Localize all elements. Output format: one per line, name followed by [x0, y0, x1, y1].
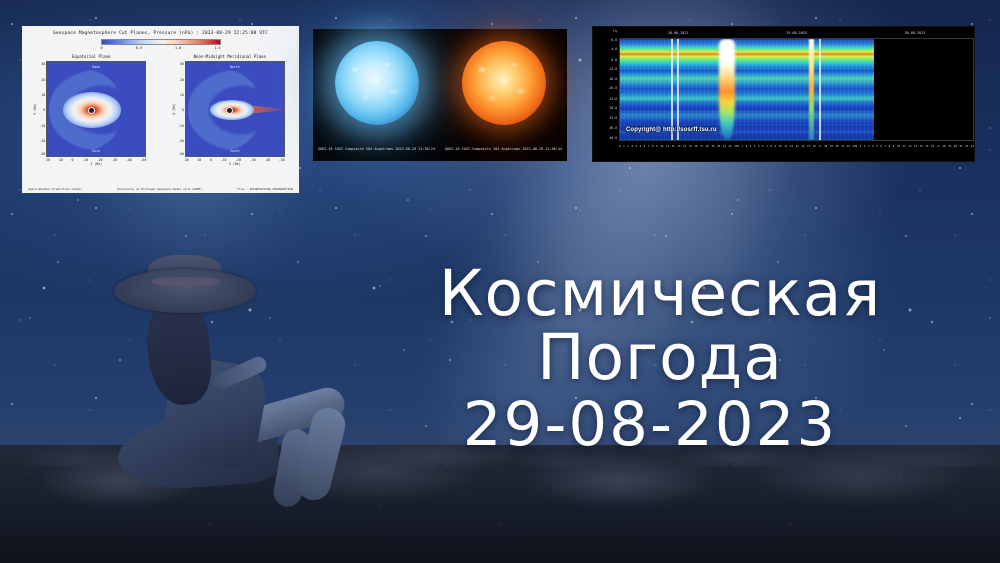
footer-right: File : 3DIONOSPTION_3DIONOSPTION: [237, 187, 293, 191]
x-tick: -20: [235, 158, 241, 162]
hour-tick: 0: [619, 145, 621, 148]
intensity-burst-primary: [719, 39, 735, 140]
slide-canvas: Geospace Magnetosphere Cut Planes, Press…: [0, 0, 1000, 563]
hour-tick: 12: [790, 145, 793, 148]
hour-tick: 17: [818, 145, 821, 148]
hour-tick: 13: [796, 145, 799, 148]
hour-tick: 20: [717, 145, 720, 148]
hour-tick: 1: [860, 145, 862, 148]
x-tick: -40: [264, 158, 270, 162]
north-label: North: [230, 65, 240, 69]
hour-tick: 2: [627, 145, 629, 148]
hour-tick: 18: [942, 145, 945, 148]
hour-tick: 12: [908, 145, 911, 148]
hour-tick: 8: [652, 145, 654, 148]
colorbar-tick-1: 0.5: [136, 46, 142, 50]
hour-tick: 4: [636, 145, 638, 148]
hour-tick: 9: [774, 145, 776, 148]
hour-tick: 9: [893, 145, 895, 148]
sun-disc-284-angstroms: [335, 41, 419, 125]
meridional-plot-row: 30 20 10 0 -10 -20 -30 Z (Re) North: [169, 61, 291, 157]
x-tick: -40: [126, 158, 132, 162]
x-tick: -50: [279, 158, 285, 162]
hour-tick: 8: [770, 145, 772, 148]
hour-tick: 0: [856, 145, 858, 148]
x-tick: -20: [97, 158, 103, 162]
hour-tick: 19: [711, 145, 714, 148]
x-tick: 20: [185, 158, 189, 162]
hour-tick: 18: [706, 145, 709, 148]
hour-tick: 15: [689, 145, 692, 148]
meridional-plane-subplot: Noon-Midnight Meridional Plane 30 20 10 …: [169, 54, 291, 166]
hour-tick: 13: [914, 145, 917, 148]
freq-tick: 8.0: [611, 58, 617, 62]
y-tick: 0: [182, 108, 184, 112]
hour-tick: 21: [723, 145, 726, 148]
hour-tick: 15: [807, 145, 810, 148]
meridional-x-label: X (Re): [185, 162, 285, 166]
y-tick: 30: [180, 62, 184, 66]
hour-tick: 16: [931, 145, 934, 148]
hour-tick: 23: [971, 145, 974, 148]
hour-tick: 12: [672, 145, 675, 148]
sun-disc-304-angstroms: [462, 41, 546, 125]
y-tick: -30: [178, 152, 184, 156]
freq-tick: 0.0: [611, 38, 617, 42]
spectrogram-heatmap: Copyright@ http://sosrff.tsu.ru: [619, 38, 974, 141]
earth-marker: [88, 107, 95, 114]
hour-tick: 14: [920, 145, 923, 148]
equatorial-y-axis: 30 20 10 0 -10 -20 -30 Y (Re): [30, 61, 46, 157]
equatorial-plot-row: 30 20 10 0 -10 -20 -30 Y (Re) Dawn: [30, 61, 152, 157]
meridional-x-axis: 20 10 0 -10 -20 -30 -40 -50: [185, 158, 285, 162]
spectrogram-data-region: [620, 39, 874, 140]
hour-tick: 11: [784, 145, 787, 148]
x-tick: -30: [111, 158, 117, 162]
hour-tick: 17: [937, 145, 940, 148]
colorbar-tick-0: 0: [101, 46, 103, 50]
hour-tick: 20: [954, 145, 957, 148]
y-tick: 10: [180, 93, 184, 97]
x-tick: 0: [210, 158, 212, 162]
hour-tick: 10: [779, 145, 782, 148]
date-label: 28-08-2023: [619, 31, 737, 35]
hour-tick: 2: [746, 145, 748, 148]
footer-left: Space Weather Prediction Center: [28, 187, 82, 191]
copyright-watermark: Copyright@ http://sosrff.tsu.ru: [626, 127, 717, 133]
hour-tick: 10: [897, 145, 900, 148]
y-tick: 20: [41, 78, 45, 82]
hour-tick: 15: [925, 145, 928, 148]
meridional-y-label: Z (Re): [172, 103, 176, 115]
straw-hat-band: [152, 277, 220, 286]
south-label: South: [230, 149, 240, 153]
colorbar-gradient: [101, 39, 221, 45]
hour-tick: 6: [644, 145, 646, 148]
hour-tick: 6: [762, 145, 764, 148]
colorbar-tick-2: 1.0: [175, 46, 181, 50]
meridional-y-axis: 30 20 10 0 -10 -20 -30 Z (Re): [169, 61, 185, 157]
hour-tick: 7: [885, 145, 887, 148]
hour-tick: 11: [903, 145, 906, 148]
x-tick: -30: [250, 158, 256, 162]
y-tick: -30: [39, 152, 45, 156]
y-tick: 0: [43, 108, 45, 112]
hour-tick: 3: [750, 145, 752, 148]
suvi-captions: GOES-16 SUVI Composite 284 Angstroms 202…: [313, 137, 567, 161]
hour-tick: 5: [876, 145, 878, 148]
spectrogram-date-labels: 28-08-2023 29-08-2023 30-08-2023: [593, 27, 974, 38]
y-tick: 10: [41, 93, 45, 97]
hour-tick: 0: [737, 145, 739, 148]
x-tick: -50: [140, 158, 146, 162]
hour-tick: 9: [656, 145, 658, 148]
hour-tick: 16: [813, 145, 816, 148]
hour-ticks-day3: 01234567891011121314151617181920212223: [856, 145, 974, 148]
magnetosphere-plot-panel[interactable]: Geospace Magnetosphere Cut Planes, Press…: [22, 26, 299, 193]
hour-tick: 7: [648, 145, 650, 148]
hour-tick: 21: [841, 145, 844, 148]
suvi-solar-images-panel[interactable]: GOES-16 SUVI Composite 284 Angstroms 202…: [313, 29, 567, 161]
suvi-image-row: [313, 29, 567, 137]
equatorial-plane-subplot: Equatorial Plane 30 20 10 0 -10 -20 -30 …: [30, 54, 152, 166]
earth-marker: [226, 107, 233, 114]
hour-tick: 13: [677, 145, 680, 148]
magnetosphere-footer: Space Weather Prediction Center Universi…: [28, 187, 293, 191]
seated-woman-silhouette: [108, 265, 408, 495]
x-tick: -10: [221, 158, 227, 162]
freq-tick: 40.0: [609, 136, 617, 140]
time-axis: 01234567891011121314151617181920212223 0…: [593, 141, 974, 151]
equatorial-y-label: Y (Re): [33, 103, 37, 115]
equatorial-x-axis: 20 10 0 -10 -20 -30 -40 -50: [46, 158, 146, 162]
magnetosphere-subplots: Equatorial Plane 30 20 10 0 -10 -20 -30 …: [22, 54, 299, 166]
hour-tick: 4: [754, 145, 756, 148]
x-tick: 10: [59, 158, 63, 162]
x-tick: 0: [72, 158, 74, 162]
sun-surface-texture: [335, 41, 419, 125]
y-tick: 30: [41, 62, 45, 66]
equatorial-heatmap: Dawn Dusk: [46, 61, 146, 157]
hour-tick: 21: [959, 145, 962, 148]
hour-tick: 17: [700, 145, 703, 148]
intensity-burst-secondary: [809, 39, 814, 140]
freq-tick: 24.0: [609, 97, 617, 101]
hour-tick: 3: [868, 145, 870, 148]
equatorial-subtitle: Equatorial Plane: [30, 54, 152, 59]
x-tick: -10: [82, 158, 88, 162]
hour-tick: 14: [683, 145, 686, 148]
frequency-axis: Гц 0.0 4.0 8.0 12.0 16.0 20.0 24.0 28.0 …: [593, 38, 619, 141]
dropout-line: [677, 39, 678, 140]
spectrogram-body: Гц 0.0 4.0 8.0 12.0 16.0 20.0 24.0 28.0 …: [593, 38, 974, 141]
date-label: 30-08-2023: [856, 31, 974, 35]
equatorial-x-label: X (Re): [46, 162, 146, 166]
hour-tick: 7: [766, 145, 768, 148]
dropout-line: [819, 39, 820, 140]
magnetosphere-title: Geospace Magnetosphere Cut Planes, Press…: [22, 26, 299, 36]
y-tick: -20: [39, 139, 45, 143]
suvi-304-caption: GOES-16 SUVI Composite 304 Angstroms 202…: [440, 147, 567, 151]
x-tick: 10: [197, 158, 201, 162]
y-tick: 20: [180, 78, 184, 82]
hour-tick: 19: [830, 145, 833, 148]
freq-tick: 12.0: [609, 67, 617, 71]
colorbar-tick-3: 1.5: [214, 46, 220, 50]
hour-ticks-day2: 01234567891011121314151617181920212223: [737, 145, 855, 148]
hour-tick: 6: [880, 145, 882, 148]
x-tick: 20: [46, 158, 50, 162]
suvi-284-image: [313, 29, 440, 137]
suvi-284-caption: GOES-16 SUVI Composite 284 Angstroms 202…: [313, 147, 440, 151]
hour-tick: 22: [847, 145, 850, 148]
dropout-line: [671, 39, 672, 140]
hour-tick: 20: [835, 145, 838, 148]
hour-tick: 4: [872, 145, 874, 148]
hour-tick: 22: [965, 145, 968, 148]
hour-ticks-day1: 01234567891011121314151617181920212223: [619, 145, 737, 148]
footer-center: University of Michigan Geospace Model v2…: [117, 187, 202, 191]
hour-tick: 1: [741, 145, 743, 148]
dusk-label: Dusk: [92, 149, 100, 153]
hour-tick: 1: [623, 145, 625, 148]
freq-tick: 20.0: [609, 86, 617, 90]
dawn-label: Dawn: [92, 65, 100, 69]
freq-tick: 32.0: [609, 116, 617, 120]
hour-tick: 19: [948, 145, 951, 148]
freq-tick: 36.0: [609, 126, 617, 130]
y-tick: -10: [39, 124, 45, 128]
hour-tick: 5: [758, 145, 760, 148]
hour-tick: 3: [631, 145, 633, 148]
freq-tick: 28.0: [609, 106, 617, 110]
y-tick: -20: [178, 139, 184, 143]
frequency-unit-label: Гц: [613, 29, 617, 33]
freq-tick: 4.0: [611, 47, 617, 51]
sun-surface-texture: [462, 41, 546, 125]
meridional-heatmap: North South: [185, 61, 285, 157]
hour-tick: 11: [666, 145, 669, 148]
hour-tick: 22: [729, 145, 732, 148]
hour-tick: 10: [660, 145, 663, 148]
suvi-304-image: [440, 29, 567, 137]
freq-tick: 16.0: [609, 77, 617, 81]
colorbar-ticks: 0 0.5 1.0 1.5: [101, 46, 221, 50]
straw-hat-brim: [114, 269, 256, 313]
hour-tick: 2: [864, 145, 866, 148]
meridional-subtitle: Noon-Midnight Meridional Plane: [169, 54, 291, 59]
hour-tick: 16: [694, 145, 697, 148]
date-label: 29-08-2023: [737, 31, 855, 35]
hour-tick: 18: [824, 145, 827, 148]
y-tick: -10: [178, 124, 184, 128]
hour-tick: 14: [801, 145, 804, 148]
pressure-colorbar: 0 0.5 1.0 1.5: [101, 39, 221, 50]
hour-tick: 5: [640, 145, 642, 148]
hour-tick: 8: [889, 145, 891, 148]
schumann-spectrogram-panel[interactable]: 28-08-2023 29-08-2023 30-08-2023 Гц 0.0 …: [592, 26, 975, 162]
